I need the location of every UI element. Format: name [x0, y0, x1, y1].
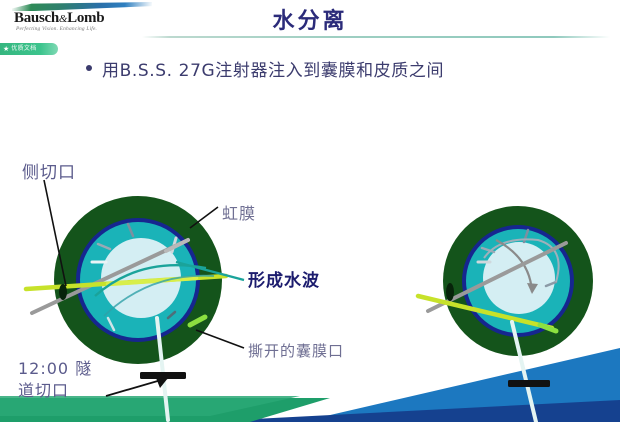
bullet-text: 用B.S.S. 27G注射器注入到囊膜和皮质之间: [102, 56, 444, 81]
label-iris: 虹膜: [222, 200, 256, 224]
slide-title: 水分离: [0, 3, 620, 35]
badge-label: 优质文档: [11, 46, 36, 52]
bullet-row: 用B.S.S. 27G注射器注入到囊膜和皮质之间: [86, 56, 444, 81]
title-divider: [142, 36, 610, 38]
label-side-incision: 侧切口: [22, 158, 76, 183]
label-water-wave: 形成水波: [248, 266, 320, 291]
label-capsulorhexis: 撕开的囊膜口: [248, 340, 344, 361]
star-icon: ★: [3, 46, 9, 53]
label-tunnel-incision: 12:00 隧 道切口: [18, 358, 92, 402]
label-tunnel-line1: 12:00 隧: [18, 358, 92, 380]
label-tunnel-line2: 道切口: [18, 380, 92, 402]
bullet-dot-icon: [86, 65, 92, 71]
quality-doc-badge: ★ 优质文档: [0, 43, 58, 55]
slide-canvas: Bausch&Lomb Perfecting Vision. Enhancing…: [0, 0, 620, 422]
